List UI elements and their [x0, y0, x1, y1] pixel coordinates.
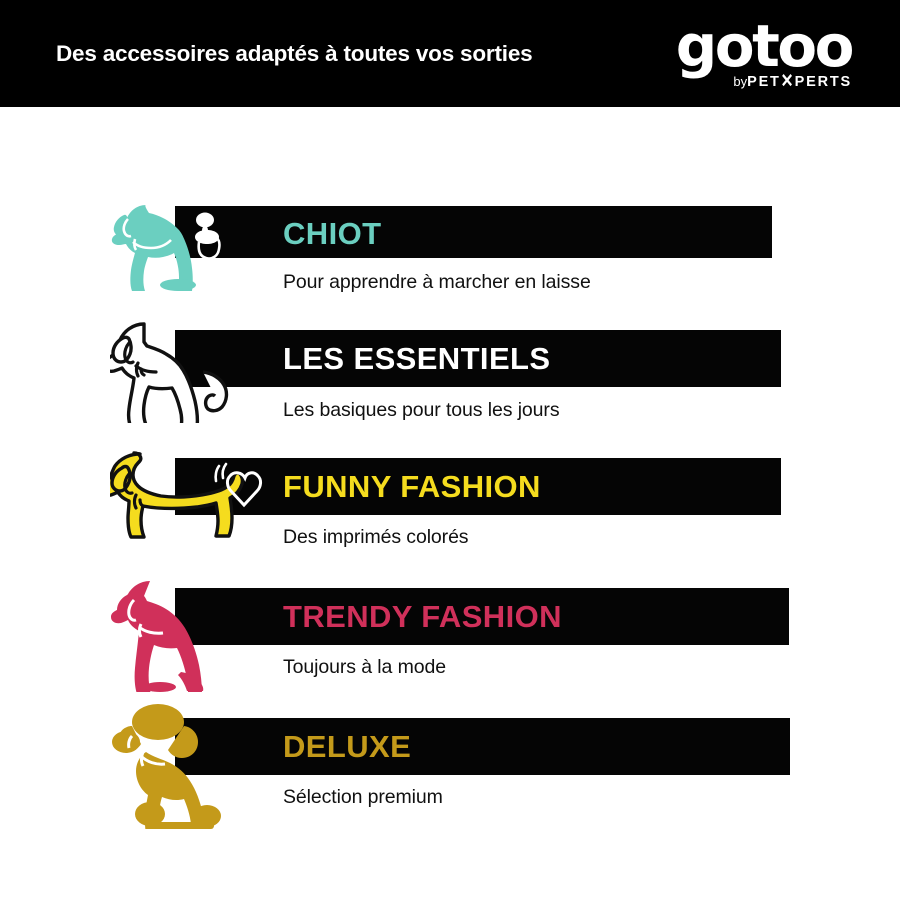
category-row-deluxe[interactable]: DELUXE Sélection premium	[0, 622, 900, 762]
poodle-sitting-silhouette	[110, 704, 265, 829]
category-title: DELUXE	[283, 729, 411, 765]
category-subtitle: Sélection premium	[283, 786, 443, 809]
paw-x-icon: ✕	[780, 72, 795, 93]
logo-by-text: by	[733, 74, 747, 89]
page-title: Des accessoires adaptés à toutes vos sor…	[56, 0, 532, 107]
category-row-trendy-fashion[interactable]: TRENDY FASHION Toujours à la mode	[0, 492, 900, 622]
category-row-funny-fashion[interactable]: FUNNY FASHION Des imprimés colorés	[0, 362, 900, 492]
gotoo-logo[interactable]: gotoo byPET✕PERTS	[672, 20, 852, 94]
header-bar: Des accessoires adaptés à toutes vos sor…	[0, 0, 900, 107]
category-row-chiot[interactable]: CHIOT Pour apprendre à marcher en laisse	[0, 107, 900, 232]
logo-brand-right: PERTS	[795, 74, 852, 90]
category-bar	[175, 718, 790, 775]
category-list: CHIOT Pour apprendre à marcher en laisse	[0, 107, 900, 900]
category-row-les-essentiels[interactable]: LES ESSENTIELS Les basiques pour tous le…	[0, 232, 900, 362]
logo-wordmark: gotoo	[672, 20, 852, 72]
logo-brand-left: PET	[747, 74, 781, 90]
